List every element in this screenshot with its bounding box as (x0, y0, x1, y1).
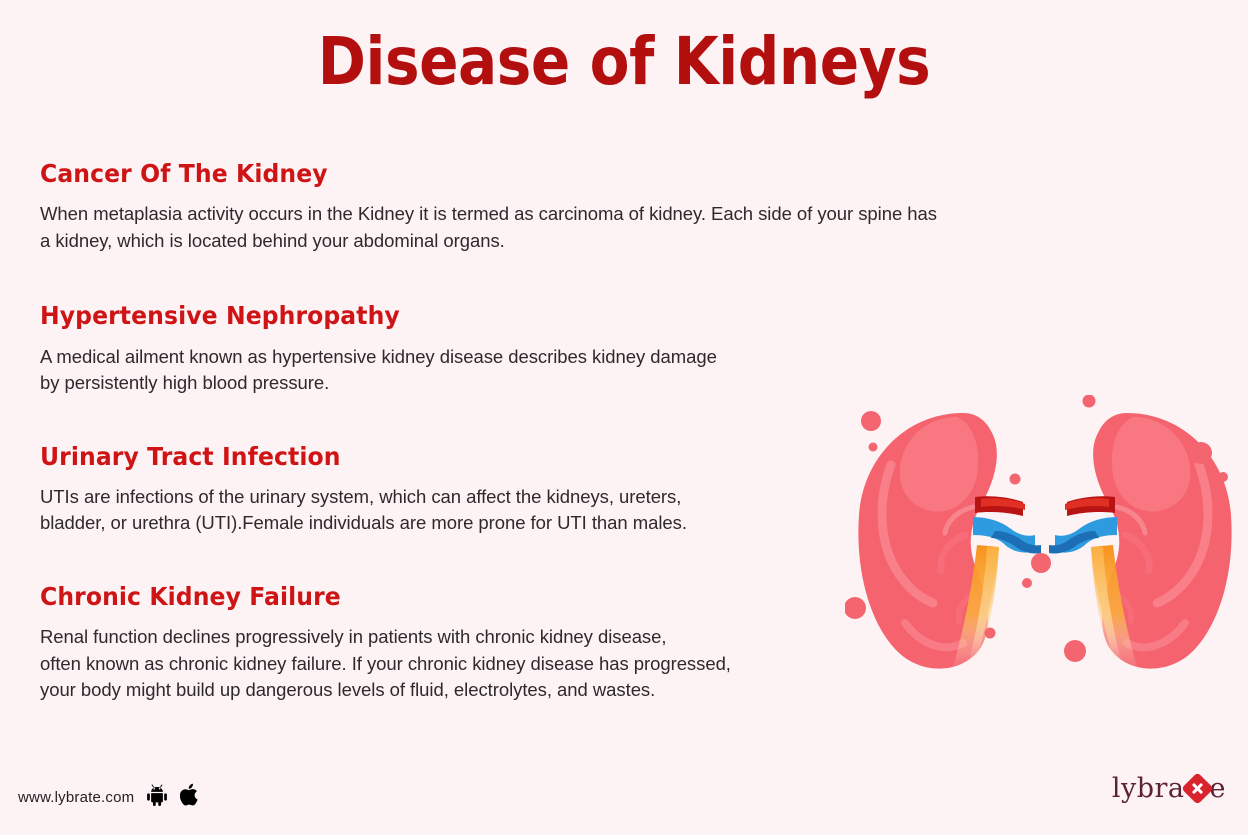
footer-left-group: www.lybrate.com (18, 783, 200, 812)
section-hypertensive-nephropathy: Hypertensive Nephropathy A medical ailme… (40, 300, 1160, 396)
section-body: A medical ailment known as hypertensive … (40, 344, 1160, 397)
infographic-page: Disease of Kidneys Cancer Of The Kidney … (0, 0, 1248, 835)
section-cancer-of-the-kidney: Cancer Of The Kidney When metaplasia act… (40, 158, 1160, 254)
apple-icon[interactable] (180, 783, 200, 812)
section-heading: Hypertensive Nephropathy (40, 300, 1093, 331)
site-url[interactable]: www.lybrate.com (18, 789, 134, 806)
section-heading: Cancer Of The Kidney (40, 158, 1093, 189)
logo-text-group: lybra e (1112, 775, 1226, 802)
kidney-illustration (845, 395, 1245, 690)
logo-text-before: lybra (1112, 775, 1185, 802)
page-title: Disease of Kidneys (75, 26, 1173, 99)
footer: www.lybrate.com (0, 765, 1248, 835)
android-icon[interactable] (146, 784, 168, 811)
lybrate-logo[interactable]: lybra e (1112, 775, 1226, 802)
plus-diamond-icon (1181, 772, 1214, 805)
section-body: When metaplasia activity occurs in the K… (40, 201, 1160, 254)
